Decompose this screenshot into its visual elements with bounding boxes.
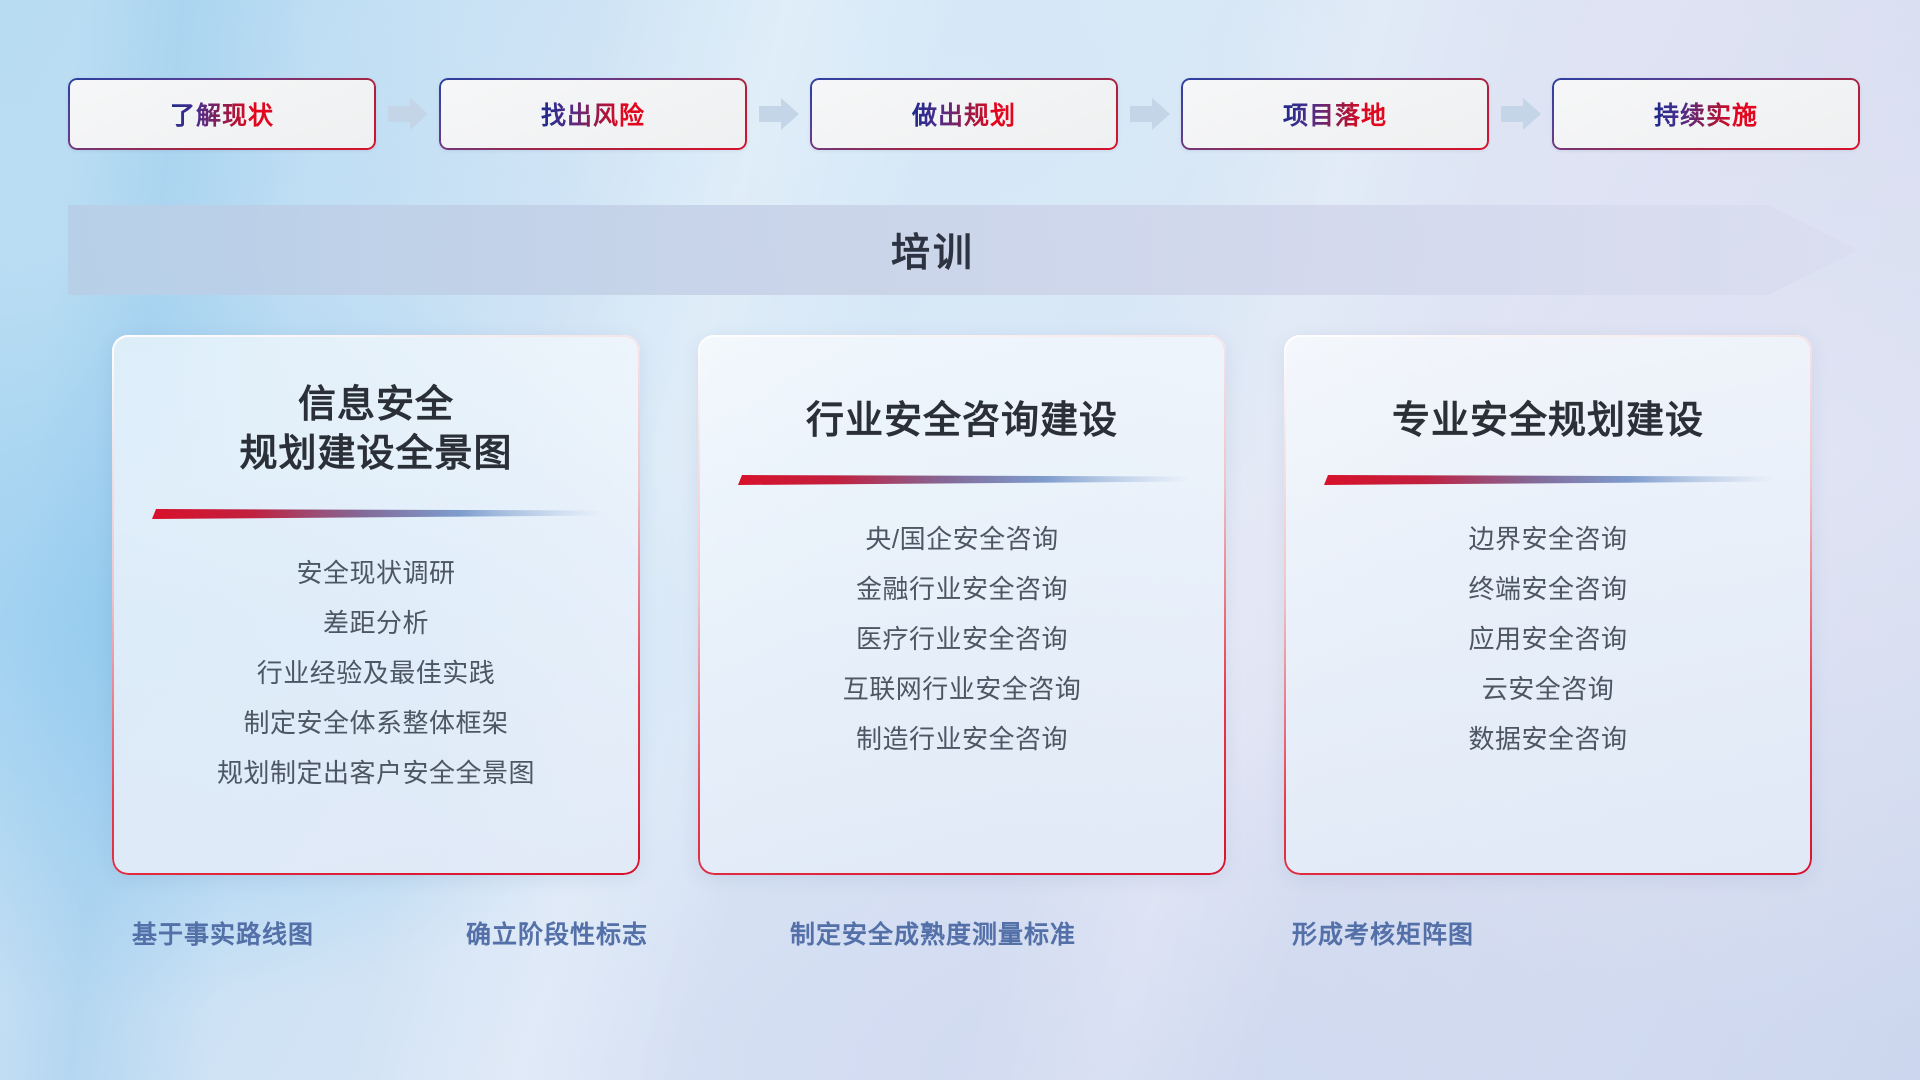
card-accent-divider: [734, 472, 1190, 488]
card-professional-security-planning[interactable]: 专业安全规划建设 边界安: [1284, 335, 1812, 875]
card-title-line: 规划建设全景图: [239, 430, 512, 479]
step-pill-label: 做出规划: [912, 96, 1016, 132]
list-item: 安全现状调研: [112, 548, 640, 598]
card-accent-divider: [1320, 472, 1776, 488]
list-item: 行业经验及最佳实践: [112, 648, 640, 698]
right-arrow-icon: [388, 97, 428, 131]
footer-label: 确立阶段性标志: [466, 915, 648, 951]
card-industry-security-consulting[interactable]: 行业安全咨询建设 央/国: [698, 335, 1226, 875]
list-item: 规划制定出客户安全全景图: [112, 748, 640, 798]
step-pill-label: 找出风险: [541, 96, 645, 132]
footer-labels-row: 基于事实路线图 确立阶段性标志 制定安全成熟度测量标准 形成考核矩阵图: [0, 915, 1920, 959]
list-item: 终端安全咨询: [1284, 564, 1812, 614]
footer-label: 形成考核矩阵图: [1292, 915, 1474, 951]
footer-label: 基于事实路线图: [132, 915, 314, 951]
right-arrow-icon: [1501, 97, 1541, 131]
right-arrow-icon: [759, 97, 799, 131]
footer-label: 制定安全成熟度测量标准: [790, 915, 1076, 951]
list-item: 制造行业安全咨询: [698, 714, 1226, 764]
list-item: 互联网行业安全咨询: [698, 664, 1226, 714]
list-item: 数据安全咨询: [1284, 714, 1812, 764]
list-item: 差距分析: [112, 598, 640, 648]
card-title-line: 信息安全: [239, 381, 512, 430]
card-accent-divider: [148, 506, 604, 522]
card-item-list: 安全现状调研 差距分析 行业经验及最佳实践 制定安全体系整体框架 规划制定出客户…: [112, 548, 640, 798]
training-banner: 培训: [68, 205, 1858, 295]
card-item-list: 央/国企安全咨询 金融行业安全咨询 医疗行业安全咨询 互联网行业安全咨询 制造行…: [698, 514, 1226, 764]
list-item: 云安全咨询: [1284, 664, 1812, 714]
step-pill-label: 持续实施: [1654, 96, 1758, 132]
card-information-security-panorama[interactable]: 信息安全 规划建设全景图: [112, 335, 640, 875]
step-pill-1[interactable]: 了解现状: [68, 78, 376, 150]
list-item: 应用安全咨询: [1284, 614, 1812, 664]
card-title: 专业安全规划建设: [1392, 397, 1704, 446]
step-pill-2[interactable]: 找出风险: [439, 78, 747, 150]
list-item: 边界安全咨询: [1284, 514, 1812, 564]
card-item-list: 边界安全咨询 终端安全咨询 应用安全咨询 云安全咨询 数据安全咨询: [1284, 514, 1812, 764]
step-pill-label: 项目落地: [1283, 96, 1387, 132]
card-title: 信息安全 规划建设全景图: [239, 381, 512, 480]
cards-row: 信息安全 规划建设全景图: [112, 335, 1812, 875]
list-item: 金融行业安全咨询: [698, 564, 1226, 614]
list-item: 医疗行业安全咨询: [698, 614, 1226, 664]
step-pill-4[interactable]: 项目落地: [1181, 78, 1489, 150]
process-steps-row: 了解现状 找出风险 做出规划 项目落地: [68, 78, 1860, 150]
step-pill-5[interactable]: 持续实施: [1552, 78, 1860, 150]
list-item: 制定安全体系整体框架: [112, 698, 640, 748]
card-title-line: 专业安全规划建设: [1392, 397, 1704, 446]
card-title: 行业安全咨询建设: [806, 397, 1118, 446]
card-title-line: 行业安全咨询建设: [806, 397, 1118, 446]
slide-canvas: 了解现状 找出风险 做出规划 项目落地: [0, 0, 1920, 1080]
banner-title: 培训: [68, 205, 1798, 295]
right-arrow-icon: [1130, 97, 1170, 131]
step-pill-3[interactable]: 做出规划: [810, 78, 1118, 150]
step-pill-label: 了解现状: [170, 96, 274, 132]
list-item: 央/国企安全咨询: [698, 514, 1226, 564]
